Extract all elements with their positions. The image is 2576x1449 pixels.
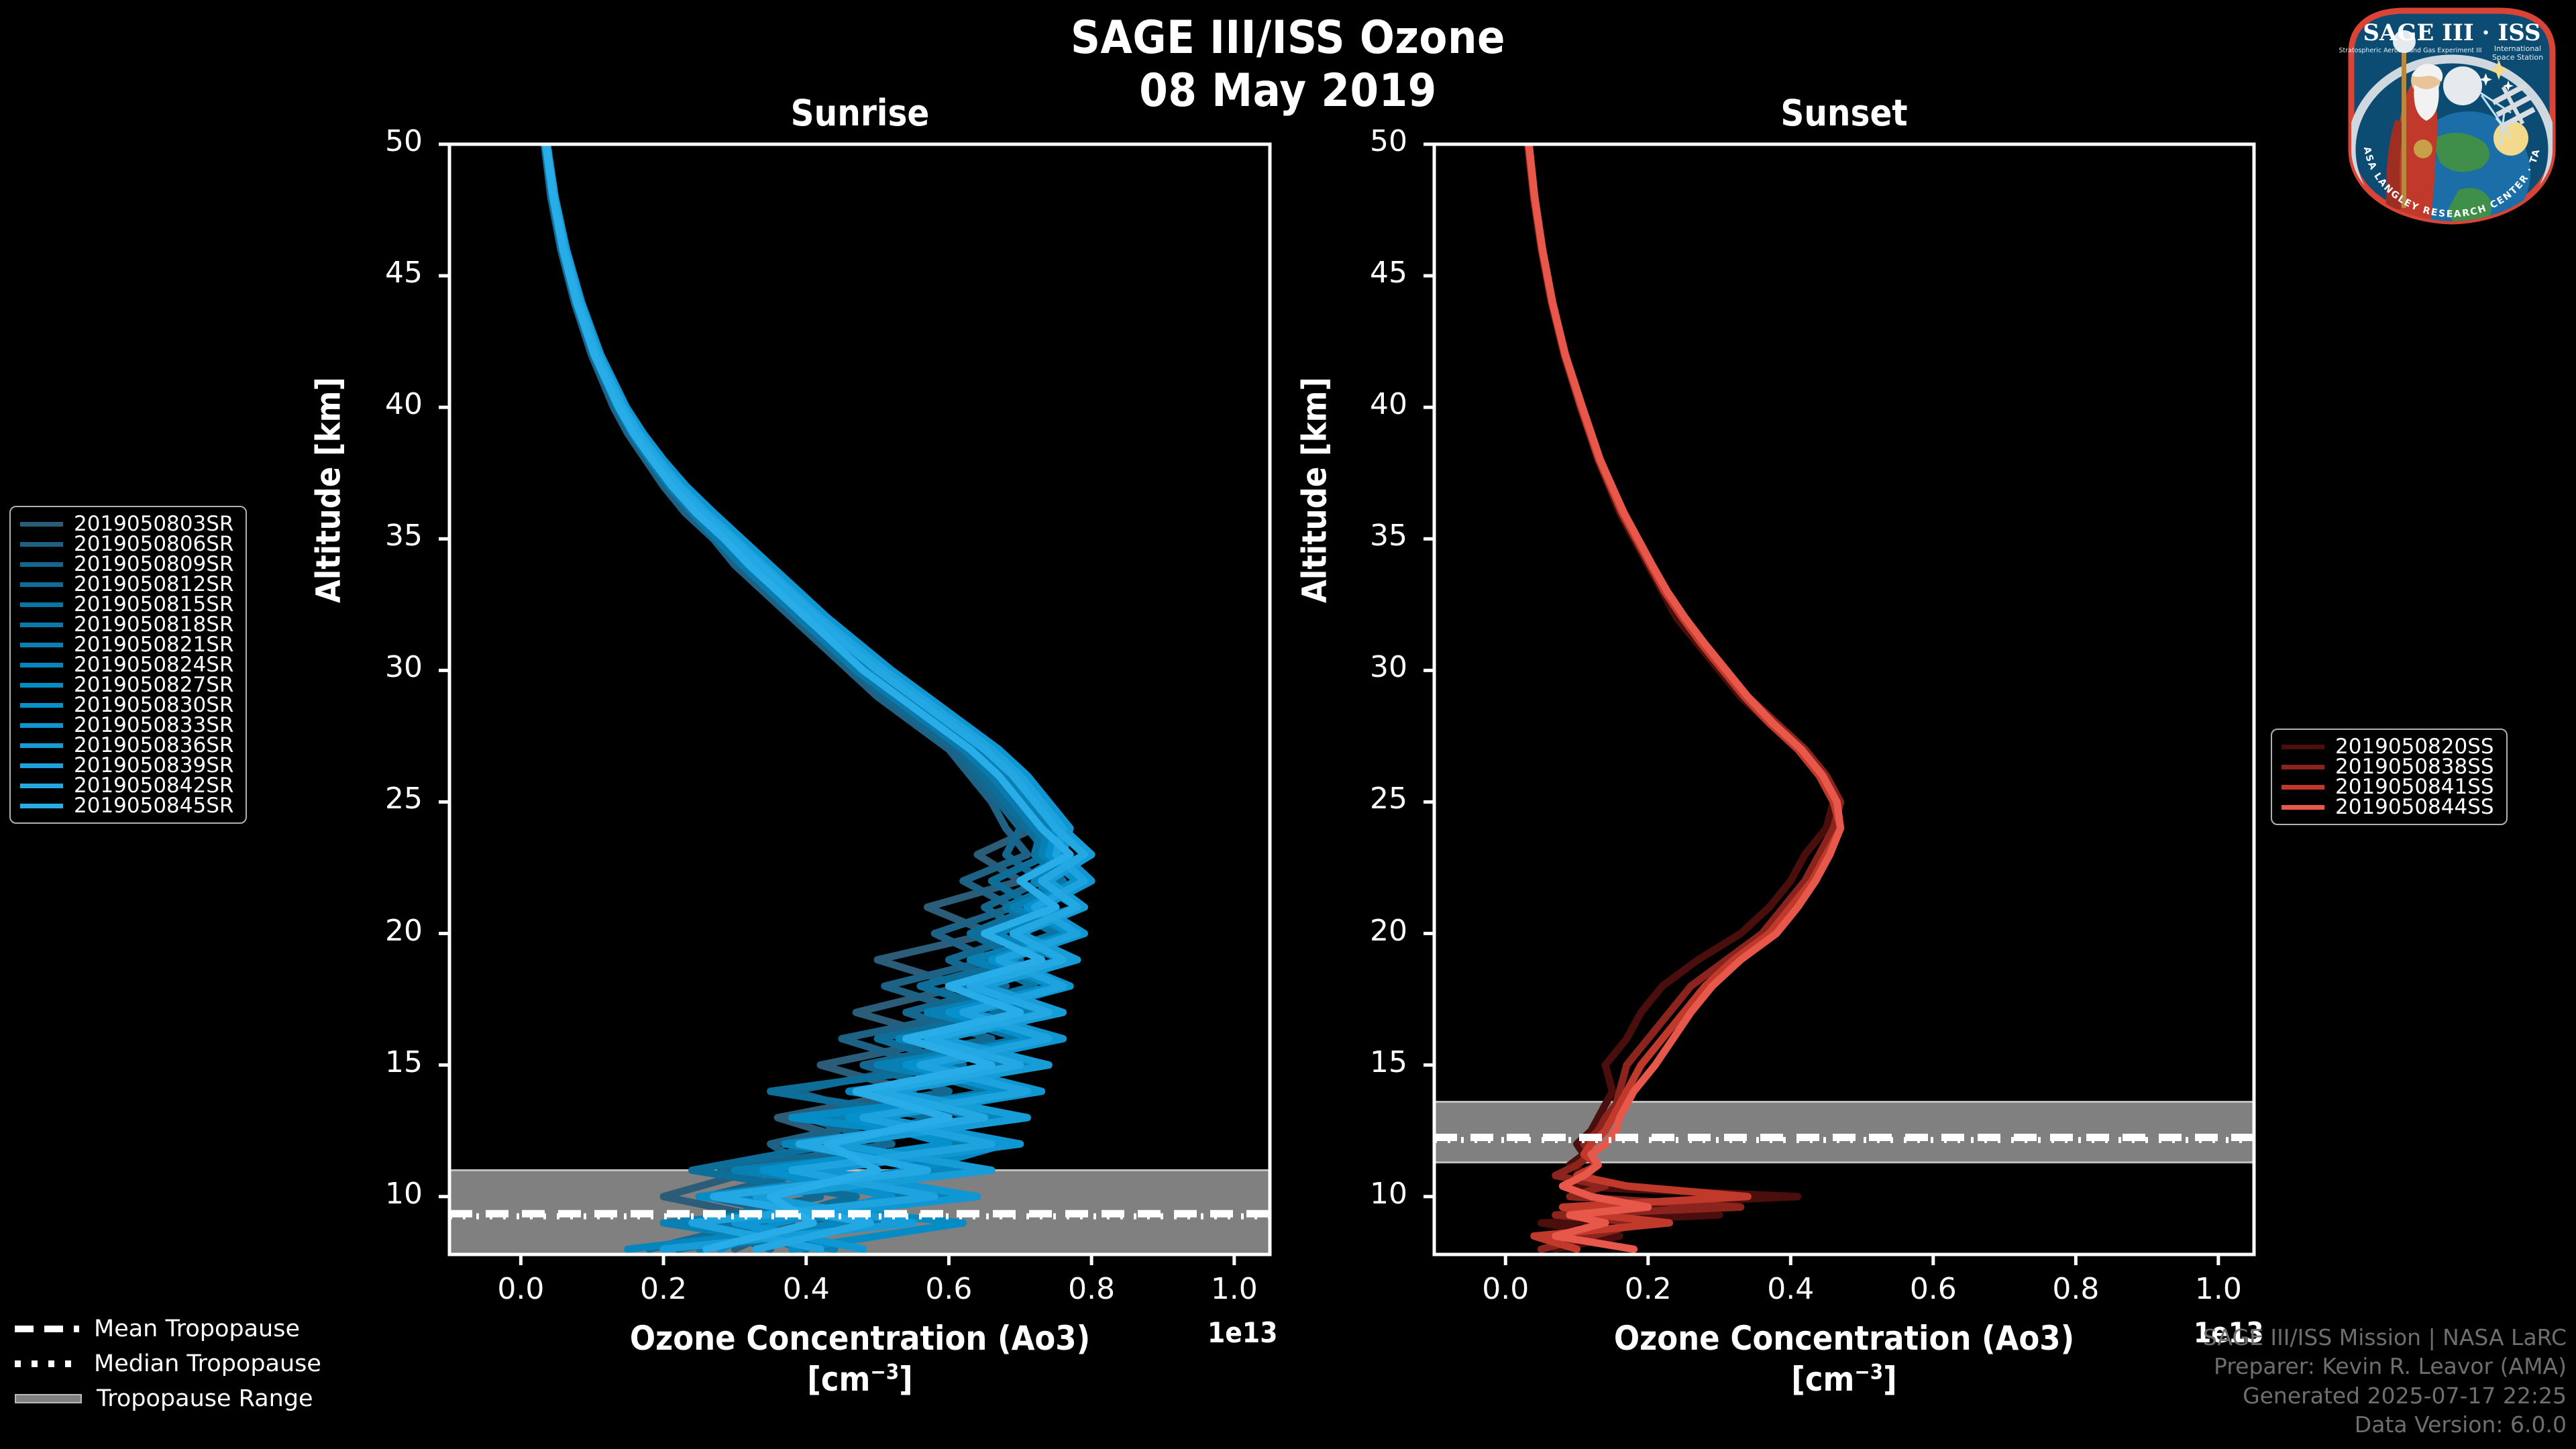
tropopause-legend-item[interactable]: Tropopause Range [15, 1381, 321, 1416]
legend-item-label: Median Tropopause [94, 1350, 321, 1377]
sunrise-legend-item[interactable]: 2019050812SR [20, 574, 233, 594]
sunrise-x-axis-label: Ozone Concentration (Ao3) [cm−3] [449, 1318, 1271, 1400]
credits-line-mission: SAGE III/ISS Mission | NASA LaRC [2203, 1323, 2567, 1352]
sunrise-legend-item[interactable]: 2019050842SR [20, 775, 233, 796]
sunset-x-axis-label-line1: Ozone Concentration (Ao3) [1434, 1318, 2254, 1359]
sunset-legend-item[interactable]: 2019050838SS [2282, 757, 2494, 777]
sunrise-legend-item[interactable]: 2019050821SR [20, 635, 233, 655]
sunset-legend-item[interactable]: 2019050841SS [2282, 777, 2494, 797]
legend-band-swatch [15, 1394, 82, 1403]
logo-figure-medallion [2414, 140, 2432, 158]
sunrise-legend-item[interactable]: 2019050830SR [20, 695, 233, 715]
logo-title-text: SAGE III · ISS [2363, 19, 2540, 46]
credits-line-version: Data Version: 6.0.0 [2203, 1410, 2567, 1440]
sunrise-panel [439, 144, 1270, 1265]
legend-color-swatch [20, 804, 63, 808]
sunrise-legend-item[interactable]: 2019050809SR [20, 554, 233, 574]
legend-color-swatch [20, 522, 63, 527]
series-line-2019050838SS [1528, 144, 1840, 1249]
sunrise-legend-item[interactable]: 2019050815SR [20, 594, 233, 614]
sunrise-legend-item[interactable]: 2019050827SR [20, 675, 233, 695]
legend-color-swatch [20, 623, 63, 627]
sunset-x-axis-label-line2: [cm−3] [1434, 1359, 2254, 1400]
legend-color-swatch [2282, 745, 2324, 749]
sunset-legend-item[interactable]: 2019050844SS [2282, 797, 2494, 817]
legend-color-swatch [20, 643, 63, 647]
series-line-2019050844SS [1529, 144, 1840, 1249]
legend-item-label: 2019050844SS [2335, 795, 2494, 819]
sunset-legend[interactable]: 2019050820SS2019050838SS2019050841SS2019… [2271, 729, 2508, 825]
sunrise-legend-item[interactable]: 2019050803SR [20, 514, 233, 534]
series-line-2019050820SS [1527, 144, 1833, 1249]
sage-iii-iss-logo-icon: SAGE III · ISS Stratospheric Aerosol and… [2331, 5, 2569, 227]
logo-figure-staff [2402, 42, 2406, 208]
sunrise-legend[interactable]: 2019050803SR2019050806SR2019050809SR2019… [9, 506, 247, 824]
legend-color-swatch [20, 663, 63, 667]
legend-color-swatch [2282, 785, 2324, 790]
legend-color-swatch [20, 723, 63, 728]
legend-color-swatch [20, 582, 63, 587]
legend-item-label: Tropopause Range [97, 1385, 313, 1412]
legend-color-swatch [2282, 765, 2324, 769]
sunset-x-axis-label: Ozone Concentration (Ao3) [cm−3] [1434, 1318, 2254, 1400]
sunset-panel [1424, 144, 2254, 1265]
series-group [1527, 144, 1840, 1249]
legend-dashed-swatch [15, 1326, 79, 1332]
tropopause-range-band [1434, 1102, 2254, 1163]
logo-subtitle-left: Stratospheric Aerosol and Gas Experiment… [2339, 47, 2481, 54]
ozone-profile-plots [0, 0, 2576, 1449]
sunrise-x-axis-label-line1: Ozone Concentration (Ao3) [449, 1318, 1271, 1359]
legend-color-swatch [20, 683, 63, 688]
legend-color-swatch [2282, 805, 2324, 810]
legend-color-swatch [20, 562, 63, 567]
legend-color-swatch [20, 602, 63, 607]
sunrise-legend-item[interactable]: 2019050818SR [20, 614, 233, 635]
sunrise-legend-item[interactable]: 2019050845SR [20, 796, 233, 816]
tropopause-legend[interactable]: Mean TropopauseMedian TropopauseTropopau… [15, 1311, 321, 1416]
sunrise-axis-offset-text: 1e13 [1207, 1316, 1278, 1349]
logo-sun [2493, 121, 2528, 156]
series-group [544, 144, 1091, 1249]
sunrise-legend-item[interactable]: 2019050806SR [20, 534, 233, 554]
legend-color-swatch [20, 542, 63, 547]
legend-dotted-swatch [15, 1360, 79, 1367]
logo-subtitle-right-line2: Space Station [2492, 53, 2543, 62]
legend-item-label: 2019050845SR [74, 794, 233, 818]
legend-color-swatch [20, 703, 63, 708]
logo-subtitle-right-line1: International [2494, 44, 2541, 53]
sunset-legend-item[interactable]: 2019050820SS [2282, 737, 2494, 757]
sunrise-legend-item[interactable]: 2019050833SR [20, 715, 233, 735]
credits-block: SAGE III/ISS Mission | NASA LaRC Prepare… [2203, 1323, 2567, 1440]
logo-moon [2443, 66, 2482, 105]
credits-line-preparer: Preparer: Kevin R. Leavor (AMA) [2203, 1352, 2567, 1381]
legend-color-swatch [20, 743, 63, 748]
legend-color-swatch [20, 784, 63, 788]
sunrise-y-axis-label: Altitude [km] [309, 256, 350, 725]
sunrise-x-axis-label-line2: [cm−3] [449, 1359, 1271, 1400]
legend-color-swatch [20, 763, 63, 768]
series-line-2019050841SS [1528, 144, 1840, 1249]
sunset-y-axis-label: Altitude [km] [1295, 256, 1336, 725]
legend-item-label: Mean Tropopause [94, 1316, 300, 1342]
sunrise-legend-item[interactable]: 2019050836SR [20, 735, 233, 755]
tropopause-legend-item[interactable]: Mean Tropopause [15, 1311, 321, 1346]
sunrise-legend-item[interactable]: 2019050824SR [20, 655, 233, 675]
tropopause-legend-item[interactable]: Median Tropopause [15, 1346, 321, 1381]
credits-line-generated: Generated 2025-07-17 22:25 [2203, 1381, 2567, 1411]
sunrise-legend-item[interactable]: 2019050839SR [20, 755, 233, 775]
